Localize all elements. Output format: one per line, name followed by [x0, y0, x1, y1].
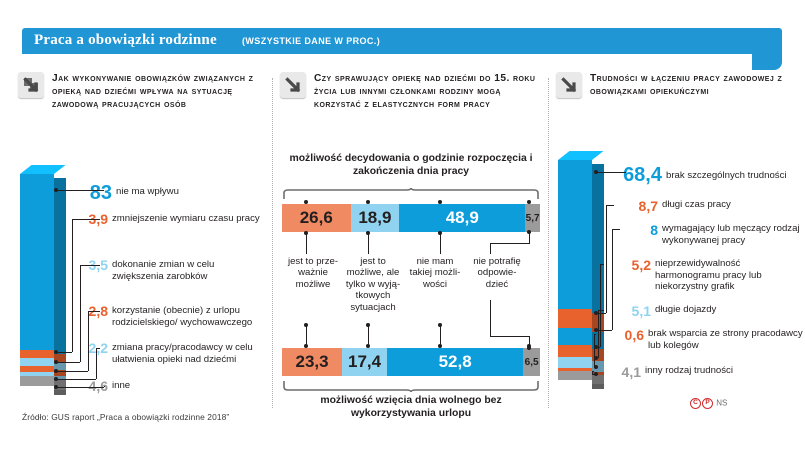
legend-label: zmniejszenie wymiaru czasu pracy: [112, 213, 264, 225]
legend-label: wymagający lub męczący rodzaj wykonywane…: [662, 223, 805, 246]
bar-segment: 52,8: [387, 348, 523, 376]
legend-label: korzystanie (obecnie) z urlopu rodziciel…: [112, 305, 264, 328]
leader-dot: [304, 344, 308, 348]
leader-line: [592, 374, 596, 375]
legend-label: długie dojazdy: [655, 304, 805, 316]
leader-line: [490, 243, 530, 244]
bar-segment: [558, 309, 592, 328]
bar-segment: 6,5: [523, 348, 540, 376]
leader-line: [594, 367, 596, 368]
bar-segment: [558, 160, 592, 309]
leader-line: [596, 172, 626, 173]
leader-dot: [366, 200, 370, 204]
arrow-down-right-icon: [556, 72, 582, 98]
middle-top-bar: 26,618,948,95,7: [282, 204, 540, 232]
bar-segment: 18,9: [351, 204, 400, 232]
registered-icon: P: [702, 398, 713, 409]
leader-dot: [304, 200, 308, 204]
leader-line: [592, 371, 594, 372]
leader-line: [56, 387, 104, 388]
bar-segment-value: 48,9: [446, 208, 479, 228]
leader-line: [72, 219, 100, 220]
top-brace: [282, 188, 540, 200]
bar-segment: [558, 345, 592, 356]
middle-bottom-bar: 23,317,452,86,5: [282, 348, 540, 376]
section-left-title: Jak wykonywanie obowiązków związanych z …: [52, 72, 266, 112]
source-note: Źródło: GUS raport „Praca a obowiązki ro…: [22, 412, 229, 422]
leader-line: [612, 229, 613, 330]
leader-line: [306, 325, 307, 346]
leader-line: [80, 265, 81, 362]
leader-line: [80, 265, 100, 266]
legend-value: 8: [625, 222, 658, 238]
bar-segment-value: 17,4: [348, 352, 381, 372]
bar-top-face: [20, 165, 66, 174]
leader-dot: [527, 200, 531, 204]
bar-segment-value: 6,5: [525, 357, 539, 368]
leader-dot: [366, 344, 370, 348]
answer-label: jest to możliwe, ale tylko w wyją-tkowyc…: [344, 256, 402, 313]
bar-segment-side: [592, 164, 604, 313]
leader-dot: [366, 323, 370, 327]
leader-line: [440, 325, 441, 346]
section-left-heading: Jak wykonywanie obowiązków związanych z …: [18, 72, 266, 112]
section-right-title: Trudności w łączeniu pracy zawodowej z o…: [590, 72, 800, 98]
leader-dot: [438, 323, 442, 327]
column-divider-1: [272, 78, 273, 408]
leader-dot: [438, 344, 442, 348]
section-middle-title: Czy sprawujący opiekę nad dziećmi do 15.…: [314, 72, 542, 112]
bar-segment: [558, 328, 592, 345]
header-tail-decoration: [752, 54, 782, 70]
leader-dot: [438, 200, 442, 204]
leader-line: [606, 205, 614, 206]
bar-segment-value: 23,3: [296, 352, 329, 372]
leader-line: [440, 233, 441, 254]
leader-line: [600, 264, 604, 265]
legend-value: 4,6: [54, 378, 108, 394]
bottom-brace: [282, 380, 540, 392]
bar-segment: 17,4: [342, 348, 387, 376]
bar-segment-value: 26,6: [300, 208, 333, 228]
middle-top-caption: możliwość decydowania o godzinie rozpocz…: [282, 152, 540, 178]
leader-line: [368, 233, 369, 254]
leader-line: [594, 334, 595, 367]
leader-line: [56, 362, 80, 363]
arrow-down-right-icon: [18, 72, 44, 98]
leader-line: [56, 379, 96, 380]
leader-dot: [304, 231, 308, 235]
copyright-mark: CP NS: [690, 398, 727, 409]
leader-line: [56, 352, 72, 353]
legend-value: 8,7: [618, 198, 658, 214]
leader-line: [88, 311, 100, 312]
legend-label: brak wsparcia ze strony pracodawcy lub k…: [648, 328, 804, 351]
leader-dot: [527, 344, 531, 348]
leader-line: [72, 219, 73, 352]
legend-value: 5,2: [608, 257, 651, 273]
leader-line: [598, 310, 599, 358]
leader-line: [490, 336, 530, 337]
leader-line: [88, 311, 89, 371]
leader-line: [306, 233, 307, 254]
answer-label: nie potrafię odpowie-dzieć: [468, 256, 526, 290]
legend-label: inny rodzaj trudności: [645, 365, 801, 377]
bar-segment: [20, 350, 54, 358]
leader-line: [598, 310, 604, 311]
legend-label: długi czas pracy: [662, 199, 805, 211]
leader-dot: [527, 230, 531, 234]
copyright-icon: C: [690, 398, 701, 409]
column-divider-2: [548, 78, 549, 408]
legend-value: 68,4: [604, 164, 662, 187]
leader-line: [490, 300, 491, 336]
legend-label: zmiana pracy/pracodawcy w celu ułatwieni…: [112, 342, 264, 365]
answer-label: jest to prze-ważnie możliwe: [284, 256, 342, 290]
legend-label: dokonanie zmian w celu zwiększenia zarob…: [112, 259, 264, 282]
legend-label: inne: [112, 380, 264, 392]
infographic-canvas: Praca a obowiązki rodzinne (WSZYSTKIE DA…: [0, 0, 805, 475]
leader-dot: [366, 231, 370, 235]
middle-bottom-caption: możliwość wzięcia dnia wolnego bez wykor…: [282, 394, 540, 420]
leader-line: [104, 386, 105, 387]
bar-segment-value: 18,9: [358, 208, 391, 228]
leader-dot: [438, 231, 442, 235]
leader-line: [606, 205, 607, 313]
leader-line: [368, 325, 369, 346]
leader-line: [596, 358, 598, 359]
bar-segment: 26,6: [282, 204, 351, 232]
leader-line: [96, 348, 100, 349]
leader-line: [600, 264, 601, 347]
header: Praca a obowiązki rodzinne (WSZYSTKIE DA…: [22, 28, 782, 58]
bar-segment-value: 52,8: [439, 352, 472, 372]
leader-line: [56, 190, 104, 191]
leader-line: [612, 229, 620, 230]
leader-line: [56, 371, 88, 372]
bar-segment: 23,3: [282, 348, 342, 376]
legend-value: 5,1: [608, 303, 651, 319]
arrow-down-right-icon: [280, 72, 306, 98]
section-right-heading: Trudności w łączeniu pracy zawodowej z o…: [556, 72, 800, 106]
bar-segment: [558, 357, 592, 368]
legend-label: nie ma wpływu: [116, 186, 266, 198]
bar-segment: [20, 174, 54, 350]
legend-value: 4,1: [598, 364, 641, 380]
header-subtitle: (WSZYSTKIE DANE W PROC.): [242, 36, 380, 46]
bar-segment: 48,9: [399, 204, 525, 232]
bar-segment: [558, 371, 592, 380]
leader-line: [594, 334, 596, 335]
legend-label: brak szczególnych trudności: [666, 170, 805, 182]
bar-segment: [20, 376, 54, 386]
legend-value: 83: [58, 182, 112, 205]
legend-label: nieprzewidywalność harmonogramu pracy lu…: [655, 258, 805, 293]
bar-segment: [20, 358, 54, 365]
page-title: Praca a obowiązki rodzinne: [34, 32, 217, 49]
bar-top-face: [558, 151, 604, 160]
section-middle: Czy sprawujący opiekę nad dziećmi do 15.…: [280, 72, 542, 112]
answer-label: nie mam takiej możli-wości: [406, 256, 464, 290]
bar-segment-value: 5,7: [526, 213, 540, 224]
section-right: Trudności w łączeniu pracy zawodowej z o…: [556, 72, 800, 106]
leader-line: [96, 348, 97, 379]
section-middle-heading: Czy sprawujący opiekę nad dziećmi do 15.…: [280, 72, 542, 112]
leader-dot: [304, 323, 308, 327]
leader-line: [490, 243, 491, 254]
copyright-label: NS: [716, 399, 727, 408]
bar-bottom-bevel: [592, 384, 604, 389]
bar-segment: 5,7: [525, 204, 540, 232]
section-left: Jak wykonywanie obowiązków związanych z …: [18, 72, 266, 112]
